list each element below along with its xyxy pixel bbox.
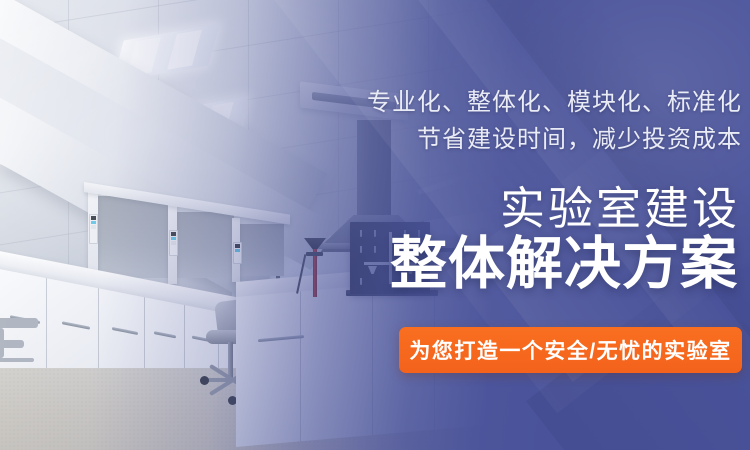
- headline-bold: 整体解决方案: [390, 236, 738, 293]
- lab-banner: 专业化、整体化、模块化、标准化 节省建设时间，减少投资成本 实验室建设 整体解决…: [0, 0, 750, 450]
- cta-button-label: 为您打造一个安全/无忧的实验室: [409, 335, 731, 365]
- headline-light: 实验室建设: [500, 186, 740, 231]
- banner-content: 专业化、整体化、模块化、标准化 节省建设时间，减少投资成本 实验室建设 整体解决…: [0, 0, 750, 450]
- subline-secondary: 节省建设时间，减少投资成本: [417, 128, 742, 152]
- cta-button[interactable]: 为您打造一个安全/无忧的实验室: [399, 327, 742, 373]
- subline-primary: 专业化、整体化、模块化、标准化: [367, 91, 742, 115]
